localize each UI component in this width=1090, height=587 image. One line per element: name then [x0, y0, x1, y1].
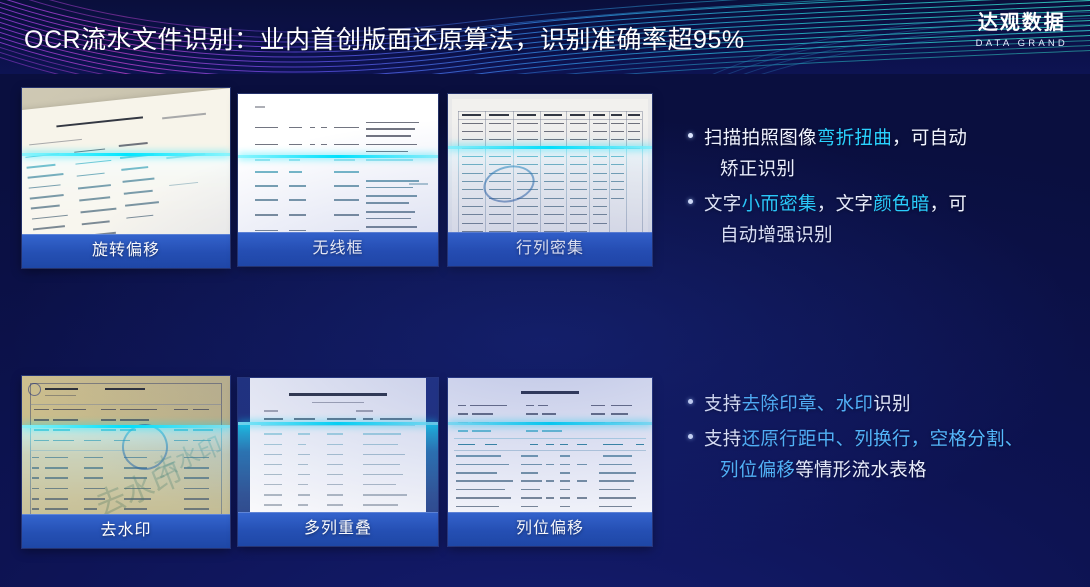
sample-image-overlap: 多列重叠: [238, 378, 438, 546]
bullet-line: 文字小而密集，文字颜色暗，可: [704, 188, 967, 219]
slide-background: OCR流水文件识别：业内首创版面还原算法，识别准确率超95% 达观数据 DATA…: [0, 0, 1090, 587]
sample-card-overlap[interactable]: 多列重叠: [238, 378, 438, 546]
slide-header: OCR流水文件识别：业内首创版面还原算法，识别准确率超95% 达观数据 DATA…: [0, 0, 1090, 74]
bullet-item: 文字小而密集，文字颜色暗，可 自动增强识别: [686, 188, 967, 250]
text-seg-highlight: 小而密集: [742, 193, 817, 214]
stamp-icon: [480, 160, 539, 208]
text-seg: 矫正识别: [720, 158, 795, 179]
logo-chinese: 达观数据: [976, 12, 1068, 35]
text-seg: 等情形流水表格: [795, 459, 927, 480]
bullet-line-cont: 列位偏移等情形流水表格: [704, 454, 1024, 485]
sample-card-rotated[interactable]: 旋转偏移: [22, 88, 230, 268]
bullet-group-bottom: 支持去除印章、水印识别 支持还原行距中、列换行，空格分割、 列位偏移等情形流水表…: [686, 388, 1024, 489]
bullet-line: 支持去除印章、水印识别: [704, 388, 1024, 419]
text-seg-highlight: 还原行距中、列换行，空格分割、: [742, 428, 1024, 449]
sample-image-offset: 列位偏移: [448, 378, 652, 546]
sample-caption: 去水印: [22, 514, 230, 548]
text-seg-highlight: 弯折扭曲: [817, 127, 892, 148]
sample-card-offset[interactable]: 列位偏移: [448, 378, 652, 546]
sample-caption: 无线框: [238, 232, 438, 266]
bullet-line: 支持还原行距中、列换行，空格分割、: [704, 423, 1024, 454]
text-seg: 支持: [704, 393, 742, 414]
bullet-line: 扫描拍照图像弯折扭曲，可自动: [704, 122, 967, 153]
text-seg: ，可自动: [892, 127, 967, 148]
page-title: OCR流水文件识别：业内首创版面还原算法，识别准确率超95%: [24, 20, 745, 56]
bullet-item: 扫描拍照图像弯折扭曲，可自动 矫正识别: [686, 122, 967, 184]
bullet-item: 支持去除印章、水印识别: [686, 388, 1024, 419]
text-seg: 扫描拍照图像: [704, 127, 817, 148]
bullet-line-cont: 矫正识别: [704, 153, 967, 184]
sample-caption: 多列重叠: [238, 512, 438, 546]
text-seg-highlight: 列位偏移: [720, 459, 795, 480]
text-seg: 自动增强识别: [720, 224, 833, 245]
text-seg-highlight: 去除印章、水印: [742, 393, 874, 414]
sample-image-dense: 行列密集: [448, 94, 652, 266]
text-seg: 文字: [704, 193, 742, 214]
text-seg: ，文字: [817, 193, 873, 214]
logo-english: DATA GRAND: [976, 38, 1068, 49]
sample-image-rotated: 旋转偏移: [22, 88, 230, 268]
sample-image-grid: 旋转偏移: [18, 88, 658, 558]
sample-card-dense[interactable]: 行列密集: [448, 94, 652, 266]
text-seg: ，可: [930, 193, 968, 214]
text-seg: 支持: [704, 428, 742, 449]
bullet-line-cont: 自动增强识别: [704, 219, 967, 250]
sample-card-borderless[interactable]: 无线框: [238, 94, 438, 266]
brand-logo: 达观数据 DATA GRAND: [976, 12, 1068, 49]
sample-image-watermark: 去水印 去水印 去水印: [22, 376, 230, 548]
bullet-group-top: 扫描拍照图像弯折扭曲，可自动 矫正识别 文字小而密集，文字颜色暗，可 自动增强识…: [686, 122, 967, 254]
bullet-item: 支持还原行距中、列换行，空格分割、 列位偏移等情形流水表格: [686, 423, 1024, 485]
sample-caption: 列位偏移: [448, 512, 652, 546]
sample-caption: 行列密集: [448, 232, 652, 266]
text-seg: 识别: [873, 393, 911, 414]
sample-image-borderless: 无线框: [238, 94, 438, 266]
sample-card-watermark[interactable]: 去水印 去水印 去水印: [22, 376, 230, 548]
text-seg-highlight: 颜色暗: [873, 193, 929, 214]
sample-caption: 旋转偏移: [22, 234, 230, 268]
